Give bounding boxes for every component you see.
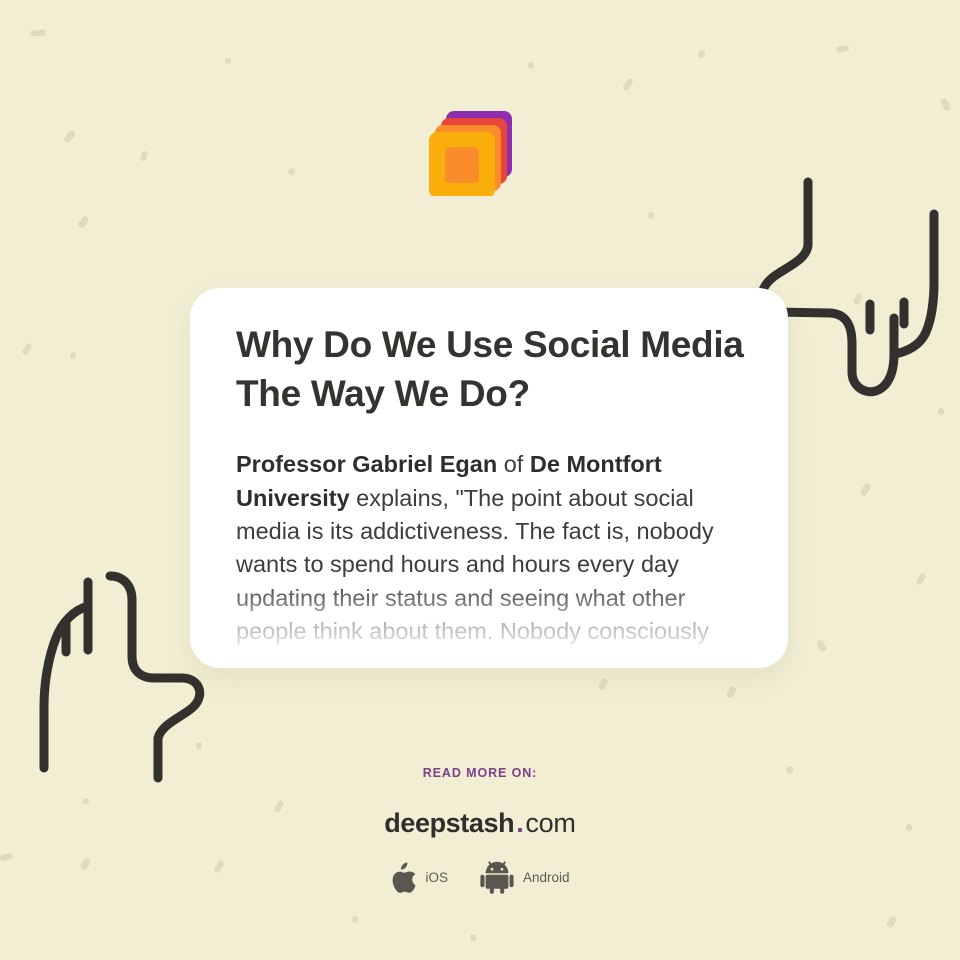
app-store-badges: iOS [0,861,960,894]
card-content: Why Do We Use Social Media The Way We Do… [236,320,744,649]
confetti-speck [470,934,476,941]
confetti-speck [648,212,654,219]
confetti-speck [196,742,202,749]
confetti-speck [21,342,32,355]
confetti-speck [939,97,951,112]
body-text-run: of [497,451,530,477]
card-body-text: Professor Gabriel Egan of De Montfort Un… [236,448,744,648]
deepstash-wordmark[interactable]: deepstash.com [0,808,960,839]
body-bold-run: Professor Gabriel Egan [236,451,497,477]
confetti-speck [885,915,897,929]
confetti-speck [288,168,295,175]
card-title: Why Do We Use Social Media The Way We Do… [236,320,744,418]
confetti-speck [70,352,76,359]
confetti-speck [528,62,534,69]
wordmark-dot: . [514,808,525,838]
confetti-speck [853,292,864,305]
android-label: Android [523,870,570,885]
android-store-badge[interactable]: Android [480,861,570,894]
idea-card[interactable]: Why Do We Use Social Media The Way We Do… [190,288,788,668]
wordmark-name: deepstash [384,808,514,838]
apple-icon [390,862,416,893]
confetti-speck [622,77,634,91]
footer: READ MORE ON: deepstash.com iOS [0,766,960,894]
deepstash-logo-icon [428,102,520,196]
confetti-speck [836,45,850,53]
wordmark-tld: com [525,808,575,838]
ios-store-badge[interactable]: iOS [390,862,448,893]
confetti-speck [352,916,358,923]
confetti-speck [77,215,90,229]
ios-label: iOS [425,870,448,885]
confetti-speck [597,677,608,690]
confetti-speck [726,685,738,699]
android-icon [480,861,514,894]
confetti-speck [938,408,944,415]
confetti-speck [859,482,872,497]
confetti-speck [30,29,46,36]
read-more-label: READ MORE ON: [0,766,960,780]
confetti-speck [815,639,828,653]
confetti-speck [139,150,148,161]
confetti-speck [63,129,77,144]
confetti-speck [697,49,706,59]
confetti-speck [915,572,926,585]
poster-canvas: Why Do We Use Social Media The Way We Do… [0,0,960,960]
confetti-speck [225,58,231,64]
